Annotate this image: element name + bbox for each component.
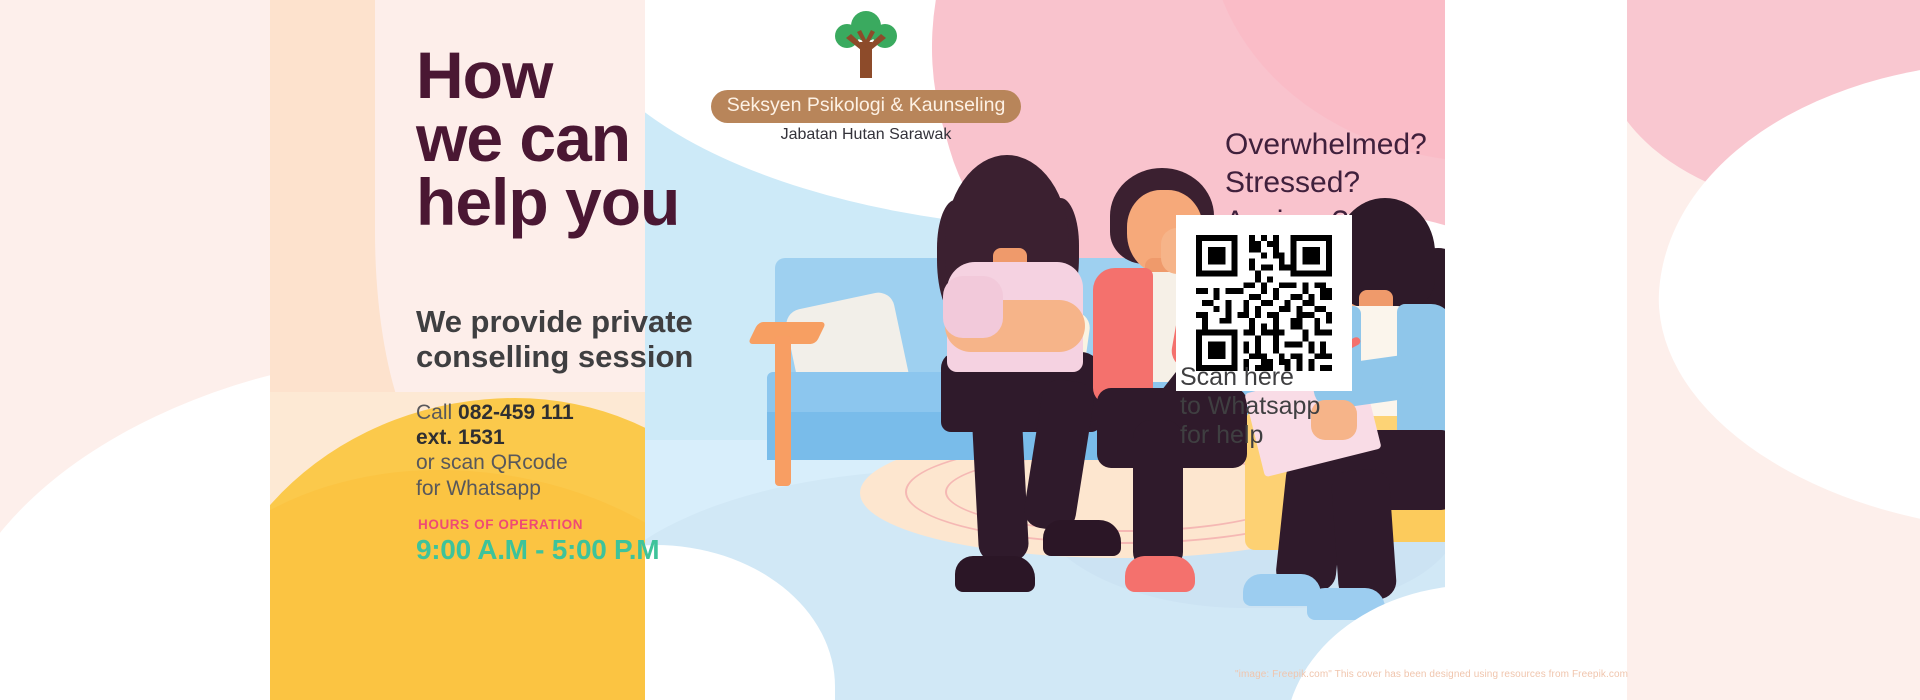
counsellor-leg-back [1331, 468, 1398, 602]
contact-call-line: Call 082-459 111 [416, 400, 716, 425]
logo-badge-label: Seksyen Psikologi & Kaunseling [711, 90, 1022, 123]
poster-canvas: Howwe canhelp you We provide privatecons… [0, 0, 1920, 700]
woman-sleeve [943, 276, 1003, 338]
contact-line-4: for Whatsapp [416, 476, 716, 501]
call-prefix: Call [416, 401, 458, 424]
organisation-logo: Seksyen Psikologi & Kaunseling Jabatan H… [696, 8, 1036, 144]
logo-subtitle: Jabatan Hutan Sarawak [696, 126, 1036, 144]
phone-number[interactable]: 082-459 111 [458, 401, 574, 424]
contact-line-3: or scan QRcode [416, 450, 716, 475]
woman-shoe-front [1043, 520, 1121, 556]
man-cardigan-left [1093, 268, 1153, 404]
man-leg-down [1133, 420, 1183, 570]
tree-icon [826, 8, 906, 88]
phone-extension: ext. 1531 [416, 425, 716, 450]
poster-card: Howwe canhelp you We provide privatecons… [270, 0, 1627, 700]
subheadline: We provide privateconselling session [416, 304, 746, 375]
qr-caption: Scan hereto Whatsappfor help [1180, 363, 1350, 450]
hours-label: HOURS OF OPERATION [418, 517, 583, 532]
qr-code-matrix [1190, 229, 1338, 377]
woman-shoe-back [955, 556, 1035, 592]
man-shoe-down [1125, 556, 1195, 592]
credit-text: "image: Freepik.com" This cover has been… [1235, 669, 1628, 680]
sofa-leg-left [775, 336, 791, 486]
contact-block: Call 082-459 111 ext. 1531 or scan QRcod… [416, 400, 716, 501]
hours-value: 9:00 A.M - 5:00 P.M [416, 534, 659, 566]
